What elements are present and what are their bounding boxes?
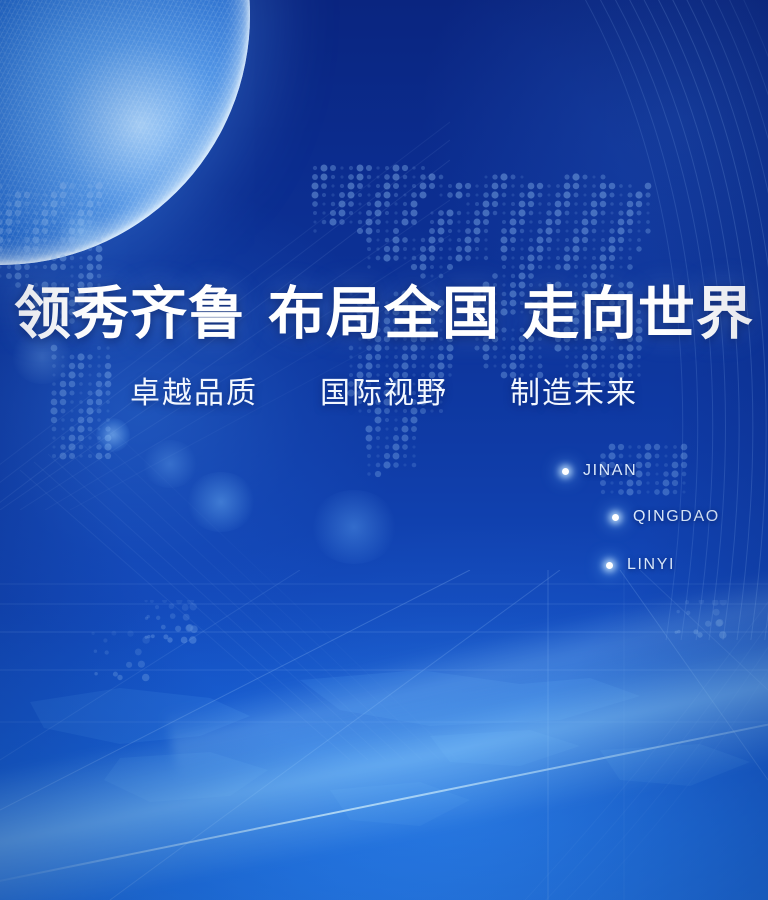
hero-banner: 领秀齐鲁布局全国走向世界 卓越品质国际视野制造未来 JINAN QINGDAO … <box>0 0 768 900</box>
city-dot-icon <box>612 514 619 521</box>
city-label-linyi: LINYI <box>627 556 675 574</box>
headline-segment-2: 布局全国 <box>268 268 500 350</box>
city-label-qingdao: QINGDAO <box>633 508 720 526</box>
city-marker-jinan[interactable]: JINAN <box>562 462 637 480</box>
headline-segment-1: 领秀齐鲁 <box>14 268 246 350</box>
headline-segment-3: 走向世界 <box>522 268 754 350</box>
city-marker-qingdao[interactable]: QINGDAO <box>612 508 720 526</box>
subline-segment-3: 制造未来 <box>510 368 638 412</box>
city-dot-icon <box>606 562 613 569</box>
banner-headline: 领秀齐鲁布局全国走向世界 <box>0 268 768 350</box>
subline-segment-2: 国际视野 <box>320 368 448 412</box>
city-label-jinan: JINAN <box>583 462 637 480</box>
city-dot-icon <box>562 468 569 475</box>
city-marker-linyi[interactable]: LINYI <box>606 556 675 574</box>
subline-segment-1: 卓越品质 <box>130 368 258 412</box>
banner-subline: 卓越品质国际视野制造未来 <box>0 368 768 412</box>
